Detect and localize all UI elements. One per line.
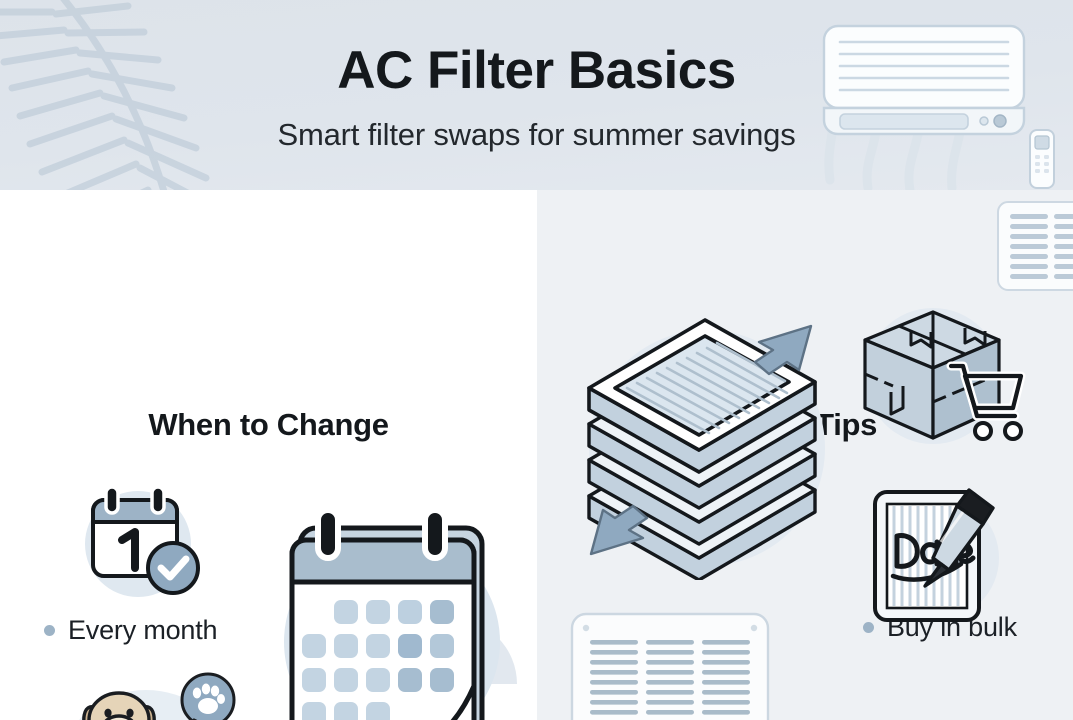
poster-header: AC Filter Basics Smart filter swaps for … bbox=[0, 0, 1073, 190]
dog-and-cat-icon bbox=[58, 668, 248, 720]
filter-card-pen-icon bbox=[857, 480, 1027, 640]
calendar-day-one-check-icon bbox=[75, 482, 210, 602]
column-filter-tips: Filter Tips bbox=[537, 190, 1073, 720]
bullet-dot-icon bbox=[44, 625, 55, 636]
bullet-label-every-month: Every month bbox=[68, 615, 217, 646]
cardboard-box-shopping-cart-icon bbox=[847, 298, 1027, 458]
header-text-block: AC Filter Basics Smart filter swaps for … bbox=[0, 0, 1073, 150]
infographic-poster: AC Filter Basics Smart filter swaps for … bbox=[0, 0, 1073, 720]
page-subtitle: Smart filter swaps for summer savings bbox=[0, 97, 1073, 150]
page-title: AC Filter Basics bbox=[0, 0, 1073, 97]
column-heading-when-to-change: When to Change bbox=[0, 408, 537, 442]
column-when-to-change: When to Change Every month bbox=[0, 190, 537, 720]
vent-grille-icon bbox=[996, 200, 1073, 292]
bullet-every-month: Every month bbox=[44, 615, 217, 646]
stacked-air-filters-icon bbox=[559, 300, 849, 580]
vent-grille-icon bbox=[570, 612, 770, 720]
large-calendar-icon bbox=[270, 500, 510, 720]
